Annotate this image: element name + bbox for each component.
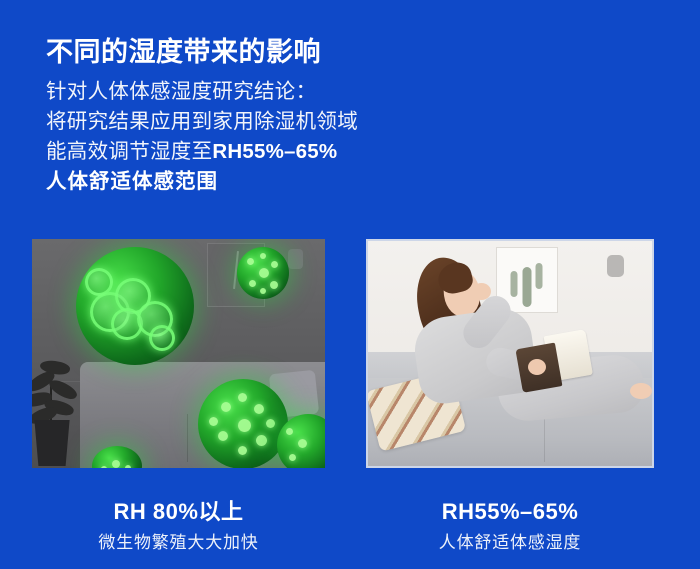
comparison-image-row: [0, 239, 700, 469]
person-hand: [472, 283, 491, 300]
caption-subtitle: 人体舒适体感湿度: [366, 531, 654, 555]
caption-high-humidity: RH 80%以上 微生物繁殖大大加快: [32, 498, 325, 555]
microbe-spike: [270, 281, 278, 289]
microbe-spike: [271, 261, 278, 268]
microbe-spike: [238, 446, 247, 455]
microbe-spike: [209, 417, 218, 426]
intro-line-2: 将研究结果应用到家用除湿机领域: [46, 107, 358, 137]
microbe-spike: [238, 393, 247, 402]
humidity-impact-slide: 不同的湿度带来的影响 针对人体体感湿度研究结论： 将研究结果应用到家用除湿机领域…: [0, 0, 700, 569]
microbe-spike: [260, 288, 266, 294]
microbe-spike: [298, 439, 307, 448]
microbe-spike: [218, 431, 228, 441]
microbe-spike: [249, 280, 256, 287]
microbe-spike: [221, 402, 231, 412]
bright-room-scene: [368, 241, 652, 466]
microbe-spike: [259, 268, 269, 278]
sofa-seam: [187, 414, 188, 462]
microbe-spike: [112, 460, 120, 468]
person-feet: [630, 383, 652, 399]
intro-line-1: 针对人体体感湿度研究结论：: [46, 77, 358, 107]
wall-speaker-icon: [288, 249, 303, 269]
microbe-blob: [76, 247, 194, 365]
woman-reading-figure: [368, 241, 652, 466]
caption-subtitle: 微生物繁殖大大加快: [32, 531, 325, 555]
intro-line-3-prefix: 能高效调节湿度至: [46, 140, 212, 163]
intro-humidity-range: RH55%–65%: [212, 140, 337, 163]
dark-room-scene: [32, 239, 325, 468]
plant-pot: [32, 420, 72, 466]
microbe-spike: [260, 253, 266, 259]
microbe-spike: [238, 419, 251, 432]
microbe-spike: [247, 258, 254, 265]
potted-plant: [32, 338, 82, 466]
microbe-blob: [198, 379, 288, 468]
caption-comfortable-humidity: RH55%–65% 人体舒适体感湿度: [366, 498, 654, 555]
microbe-bump: [149, 325, 175, 351]
microbe-spike: [125, 465, 131, 468]
high-humidity-photo: [32, 239, 325, 468]
intro-line-4: 人体舒适体感范围: [46, 167, 358, 197]
microbe-spike: [266, 419, 275, 428]
page-title: 不同的湿度带来的影响: [46, 36, 321, 70]
person-hand: [528, 359, 546, 375]
caption-title: RH55%–65%: [366, 498, 654, 526]
microbe-spike: [286, 428, 293, 435]
microbe-spike: [254, 404, 264, 414]
caption-title: RH 80%以上: [32, 498, 325, 526]
microbe-spike: [256, 435, 267, 446]
intro-line-3: 能高效调节湿度至RH55%–65%: [46, 137, 358, 167]
microbe-spike: [101, 466, 107, 468]
intro-paragraph: 针对人体体感湿度研究结论： 将研究结果应用到家用除湿机领域 能高效调节湿度至RH…: [46, 77, 358, 197]
microbe-spike: [289, 454, 296, 461]
comfortable-humidity-photo: [366, 239, 654, 468]
microbe-blob: [237, 247, 289, 299]
